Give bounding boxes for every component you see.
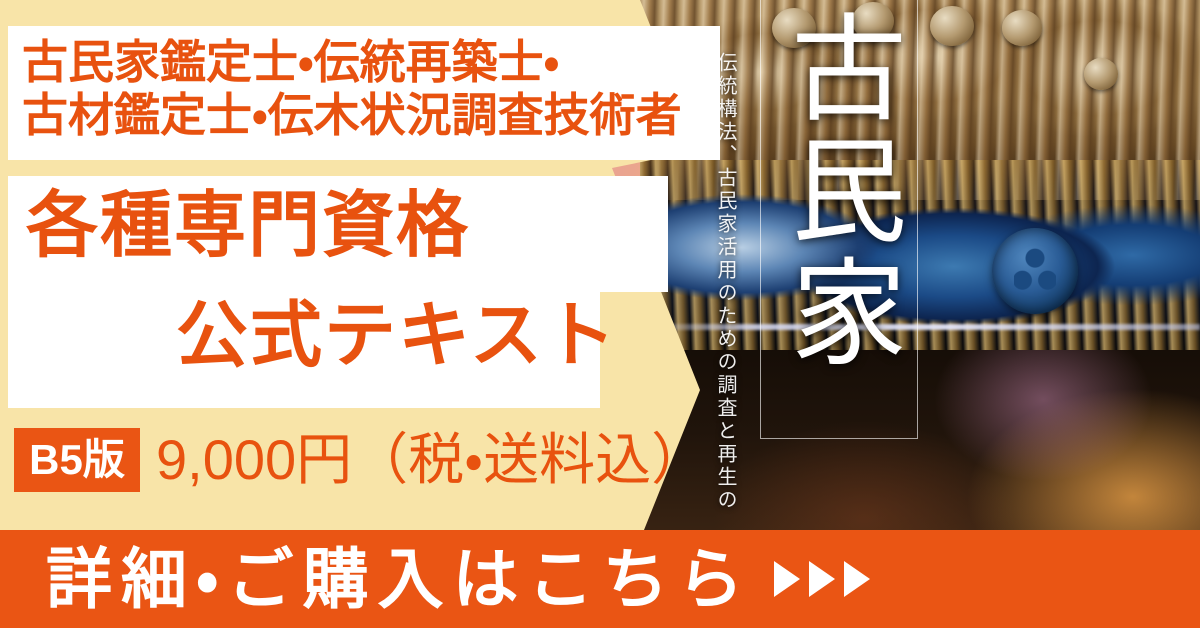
price-text: 9,000円（税・送料込） [156, 432, 707, 488]
qualification-line-1: 古民家鑑定士・伝統再築士・ [22, 39, 559, 85]
book-title: 古民家 [771, 8, 903, 374]
promo-banner: 古民家 伝統構法、古民家活用のための調査と再生の 古民家鑑定士・伝統再築士・ 古… [0, 0, 1200, 628]
triangle-right-icon [844, 561, 870, 597]
wood-knob-icon [1084, 58, 1118, 90]
cta-bar[interactable]: 詳細・ご購入はこちら [0, 530, 1200, 628]
triangle-right-icon [774, 561, 800, 597]
family-crest-icon [992, 228, 1078, 314]
size-badge: B5版 [14, 428, 140, 492]
book-cover-photo: 古民家 伝統構法、古民家活用のための調査と再生の [640, 0, 1200, 540]
headline-line-1: 各種専門資格 [26, 190, 470, 262]
qualification-line-2: 古材鑑定士・伝木状況調査技術者 [22, 92, 682, 138]
size-badge-label: B5版 [29, 439, 125, 481]
triangle-right-icon [809, 561, 835, 597]
cta-label[interactable]: 詳細・ご購入はこちら [46, 546, 752, 612]
wood-knob-icon [930, 6, 974, 46]
headline-line-2: 公式テキスト [176, 300, 618, 372]
wood-knob-icon [1002, 10, 1042, 46]
cta-arrow-group [774, 561, 870, 597]
